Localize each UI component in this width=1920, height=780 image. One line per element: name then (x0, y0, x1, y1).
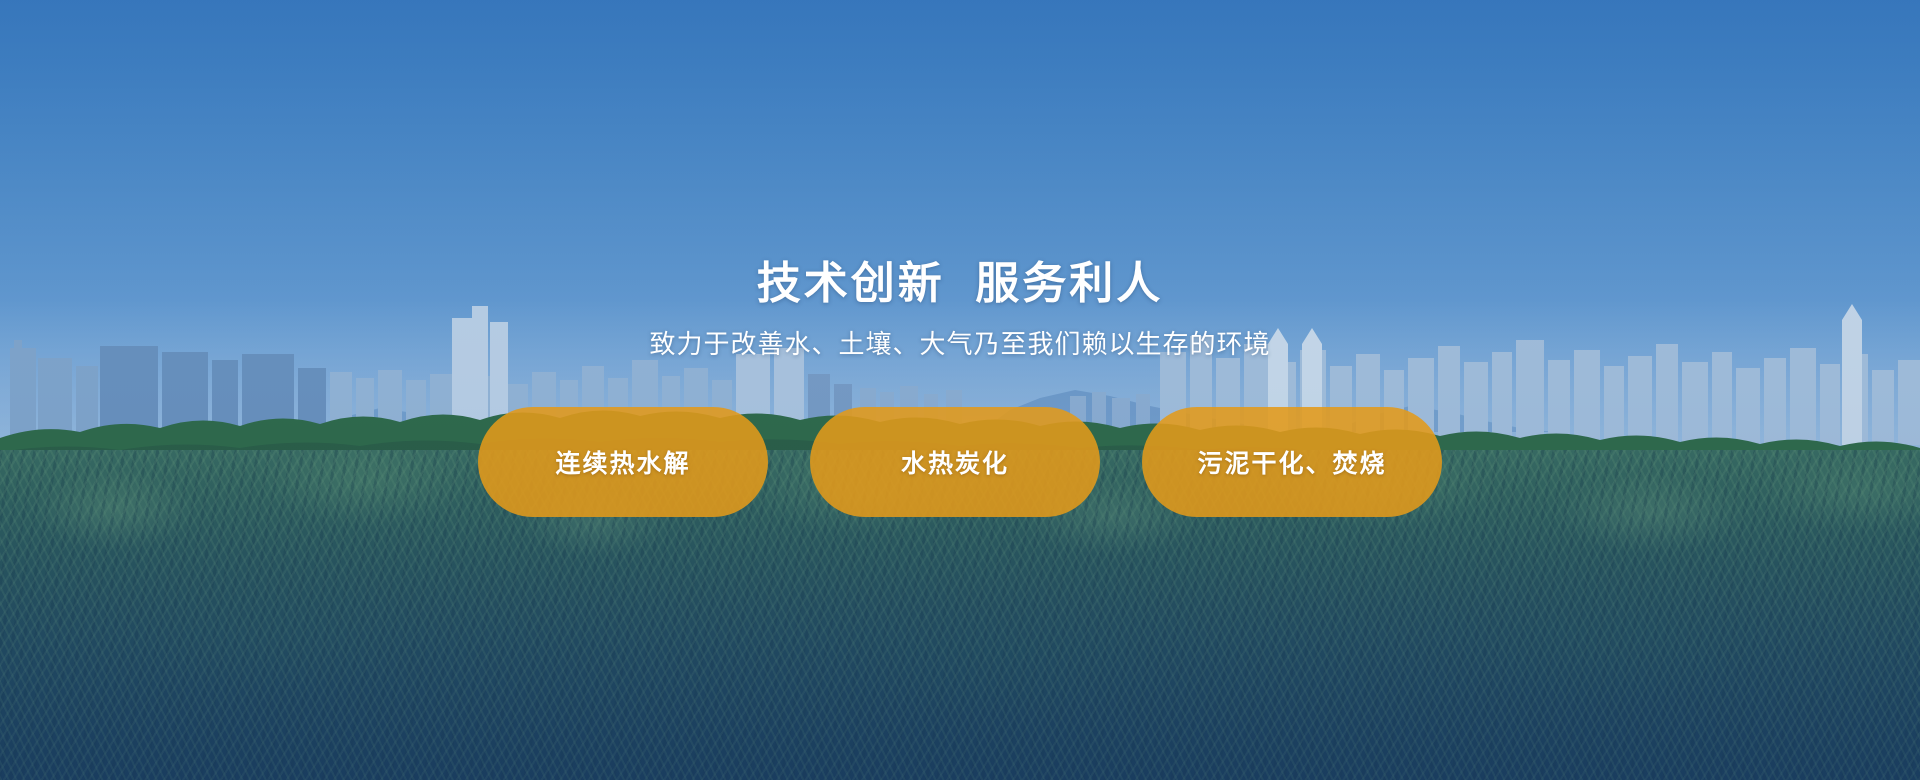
page-title: 技术创新 服务利人 (757, 262, 1163, 306)
hero-content: 技术创新 服务利人 致力于改善水、土壤、大气乃至我们赖以生存的环境 连续热水解 … (0, 0, 1920, 780)
service-button-row: 连续热水解 水热炭化 污泥干化、焚烧 (478, 407, 1442, 517)
hero-subtitle: 致力于改善水、土壤、大气乃至我们赖以生存的环境 (649, 331, 1270, 357)
service-button-sludge-drying-incineration[interactable]: 污泥干化、焚烧 (1142, 407, 1442, 517)
hero-banner: 技术创新 服务利人 致力于改善水、土壤、大气乃至我们赖以生存的环境 连续热水解 … (0, 0, 1920, 780)
service-button-hydrothermal-carbonization[interactable]: 水热炭化 (810, 407, 1100, 517)
service-button-thermal-hydrolysis[interactable]: 连续热水解 (478, 407, 768, 517)
